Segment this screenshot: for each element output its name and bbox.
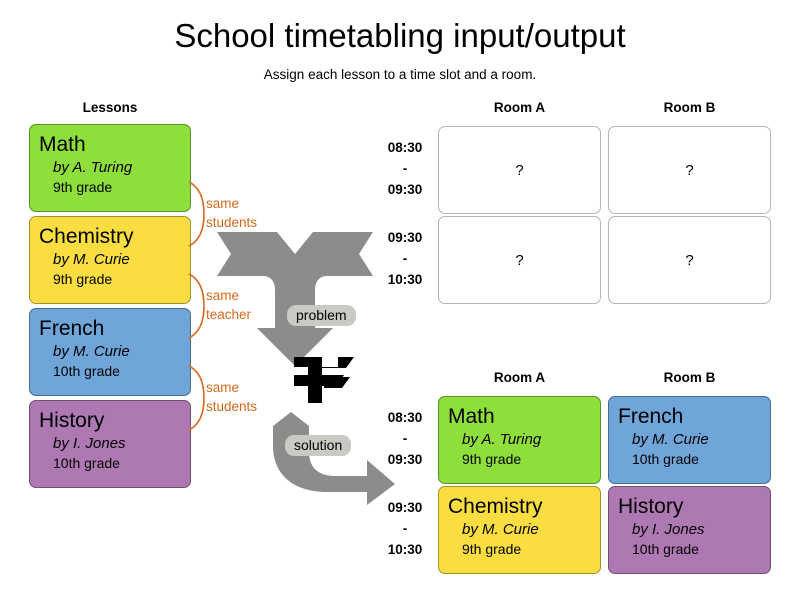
lesson-card-history[interactable]: History by I. Jones 10th grade [29, 400, 191, 488]
page-subtitle: Assign each lesson to a time slot and a … [0, 66, 800, 84]
constraint-brace-icon [188, 366, 206, 430]
lessons-column-header: Lessons [29, 100, 191, 116]
problem-room-b-header: Room B [608, 100, 771, 116]
time-dash: - [377, 428, 433, 449]
time-dash: - [377, 518, 433, 539]
problem-time-slot-2: 09:30 - 10:30 [377, 227, 433, 290]
solution-slot-room-a-0930[interactable]: Chemistry by M. Curie 9th grade [438, 486, 601, 574]
time-start: 08:30 [377, 137, 433, 158]
problem-room-a-header: Room A [438, 100, 601, 116]
solution-room-b-header: Room B [608, 370, 771, 386]
lesson-subject: Chemistry [39, 224, 190, 249]
lesson-teacher: by M. Curie [618, 429, 770, 450]
constraint-label-same-students-1: same students [206, 194, 257, 232]
solution-pill-label: solution [285, 435, 351, 456]
solution-time-slot-2: 09:30 - 10:30 [377, 497, 433, 560]
lesson-subject: History [39, 408, 190, 433]
problem-slot-room-b-0930[interactable]: ? [608, 216, 771, 304]
lesson-grade: 10th grade [39, 362, 190, 381]
problem-slot-room-a-0930[interactable]: ? [438, 216, 601, 304]
time-dash: - [377, 158, 433, 179]
lesson-card-math[interactable]: Math by A. Turing 9th grade [29, 124, 191, 212]
problem-arrow-icon [217, 232, 373, 366]
lesson-teacher: by A. Turing [39, 157, 190, 178]
problem-slot-room-b-0830[interactable]: ? [608, 126, 771, 214]
unassigned-placeholder: ? [685, 162, 693, 179]
timefold-logo-icon [288, 357, 354, 403]
lesson-subject: French [618, 404, 770, 429]
solution-slot-room-a-0830[interactable]: Math by A. Turing 9th grade [438, 396, 601, 484]
lesson-subject: Math [39, 132, 190, 157]
time-end: 09:30 [377, 179, 433, 200]
page-title: School timetabling input/output [0, 16, 800, 56]
problem-pill-label: problem [287, 305, 356, 326]
time-start: 09:30 [377, 227, 433, 248]
lesson-card-chemistry[interactable]: Chemistry by M. Curie 9th grade [29, 216, 191, 304]
constraint-brace-icon [188, 182, 206, 246]
lesson-teacher: by A. Turing [448, 429, 600, 450]
lesson-subject: French [39, 316, 190, 341]
lesson-grade: 10th grade [618, 540, 770, 559]
solution-slot-room-b-0930[interactable]: History by I. Jones 10th grade [608, 486, 771, 574]
time-end: 09:30 [377, 449, 433, 470]
lesson-subject: History [618, 494, 770, 519]
unassigned-placeholder: ? [685, 252, 693, 269]
time-start: 09:30 [377, 497, 433, 518]
lesson-grade: 9th grade [39, 178, 190, 197]
solution-room-a-header: Room A [438, 370, 601, 386]
lesson-grade: 9th grade [448, 450, 600, 469]
lesson-teacher: by I. Jones [618, 519, 770, 540]
lesson-grade: 9th grade [448, 540, 600, 559]
lesson-teacher: by I. Jones [39, 433, 190, 454]
lesson-grade: 9th grade [39, 270, 190, 289]
lesson-grade: 10th grade [618, 450, 770, 469]
time-end: 10:30 [377, 269, 433, 290]
constraint-brace-icon [188, 274, 206, 338]
lesson-card-french[interactable]: French by M. Curie 10th grade [29, 308, 191, 396]
lesson-subject: Math [448, 404, 600, 429]
time-start: 08:30 [377, 407, 433, 428]
time-end: 10:30 [377, 539, 433, 560]
unassigned-placeholder: ? [515, 162, 523, 179]
solution-time-slot-1: 08:30 - 09:30 [377, 407, 433, 470]
constraint-label-line1: same [206, 194, 257, 213]
problem-time-slot-1: 08:30 - 09:30 [377, 137, 433, 200]
lesson-subject: Chemistry [448, 494, 600, 519]
lesson-teacher: by M. Curie [39, 341, 190, 362]
lesson-grade: 10th grade [39, 454, 190, 473]
problem-slot-room-a-0830[interactable]: ? [438, 126, 601, 214]
unassigned-placeholder: ? [515, 252, 523, 269]
time-dash: - [377, 248, 433, 269]
lesson-teacher: by M. Curie [39, 249, 190, 270]
solution-slot-room-b-0830[interactable]: French by M. Curie 10th grade [608, 396, 771, 484]
lesson-teacher: by M. Curie [448, 519, 600, 540]
